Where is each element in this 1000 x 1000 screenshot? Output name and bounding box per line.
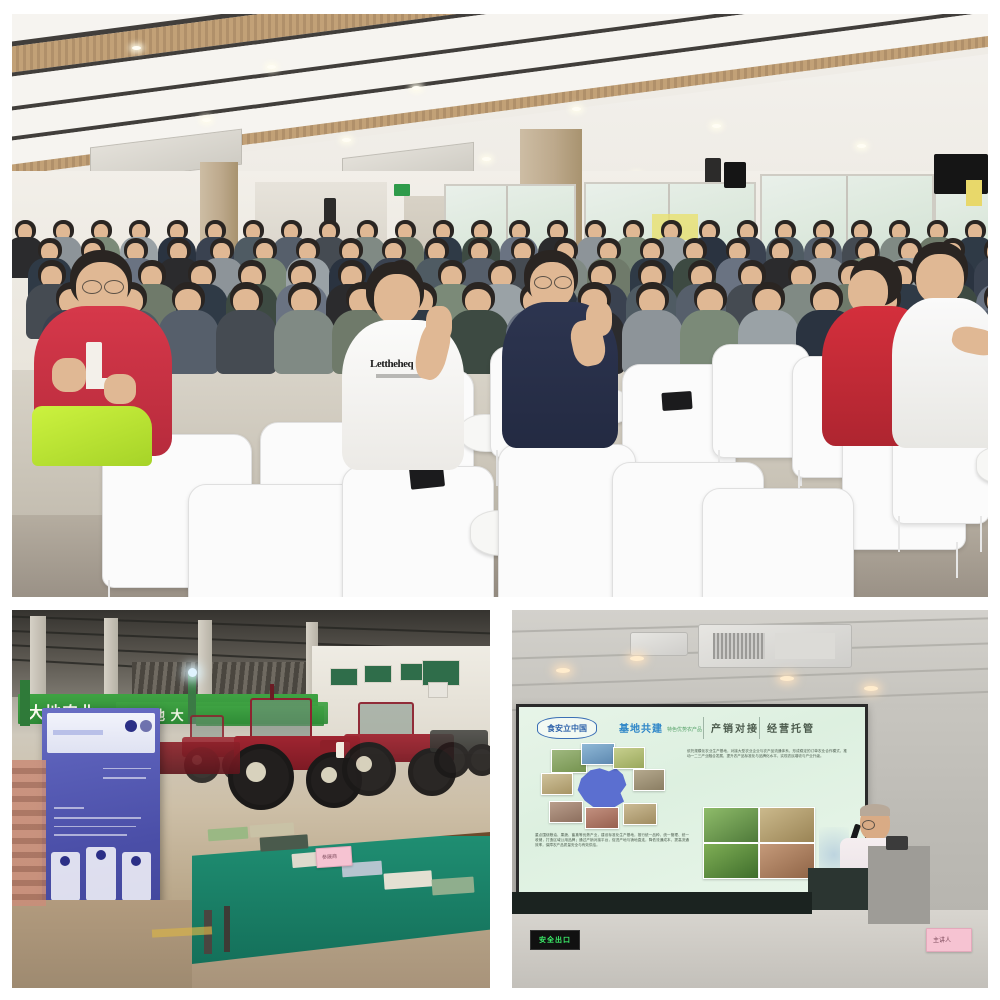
auditorium-audience-photo: Lettheheq [12, 14, 988, 597]
downlight-icon [412, 86, 421, 90]
tractor-showroom-photo: 大地农业 天地 大 [12, 610, 490, 988]
audience-member [274, 282, 335, 377]
ceiling-ac-cassette [698, 624, 852, 668]
person-white-tshirt-clapping: Lettheheq [342, 262, 472, 472]
smartphone [661, 391, 692, 411]
rollup-logo-icon [140, 720, 152, 732]
tractor [430, 718, 490, 778]
slide-photo-grid-item [759, 807, 815, 843]
shed-window [364, 665, 392, 683]
slide-thumbnail [549, 801, 583, 823]
banner-pole [20, 680, 30, 726]
wall-monitor-icon [724, 162, 746, 188]
exit-sign-icon [394, 184, 410, 196]
downlight-icon [857, 144, 866, 148]
slide-thumbnail [633, 769, 665, 791]
green-bag [32, 406, 152, 466]
speaker-name-card-text: 主讲人 [927, 929, 971, 944]
auditorium-chair [702, 488, 852, 597]
downlight-icon [132, 46, 141, 50]
slide-thumbnail [613, 747, 645, 769]
slide-body-bottom: 重点围绕粮油、果蔬、畜禽等优势产业，建设标准化生产基地，推行统一品种、统一管理、… [535, 833, 689, 849]
pink-name-card-text: 参展商 [316, 847, 351, 861]
person-navy-shirt-clapping [502, 250, 624, 450]
rollup-info-card [51, 852, 79, 902]
slide-thumbnail [581, 743, 615, 765]
slide-photo-grid-item [759, 843, 815, 879]
slide-photo-grid-item [703, 807, 759, 843]
slide-heading-3: 经营托管 [767, 720, 815, 735]
leaflet [384, 870, 433, 889]
exit-sign: 安全出口 [530, 930, 580, 950]
rollup-banner-header [47, 713, 156, 753]
rollup-info-card [86, 847, 117, 902]
downlight-icon [202, 118, 211, 122]
downlight-icon [342, 138, 351, 142]
slide-heading-1: 基地共建 [619, 720, 663, 735]
audience-member [216, 282, 277, 377]
stacked-goods [12, 760, 46, 906]
showroom-floor [12, 900, 192, 988]
exit-sign-text: 安全出口 [539, 935, 571, 945]
downlight-icon [864, 686, 878, 691]
wall-notice [966, 180, 982, 206]
lecture-presentation-photo: 食安立中国 基地共建 特色优势农产品 产销对接 经营托管 依托规模化农业生产基地… [512, 610, 988, 988]
slide-heading-1-sub: 特色优势农产品 [667, 726, 702, 733]
rollup-info-card [122, 852, 150, 902]
slide-heading-2: 产销对接 [711, 720, 759, 735]
rollup-logo-icon [125, 720, 137, 732]
photo-collage: Lettheheq [0, 0, 1000, 1000]
slide-thumbnail [623, 803, 657, 825]
slide-photo-grid-item [703, 843, 759, 879]
downlight-icon [482, 157, 491, 161]
downlight-icon [712, 124, 721, 128]
auditorium-chair [188, 484, 358, 597]
person-white-polo-right [892, 242, 988, 452]
audience-member [622, 282, 683, 377]
downlight-icon [267, 65, 276, 69]
side-cabinet [868, 846, 930, 924]
equipment-box [886, 836, 908, 850]
screen-bottom-bar [512, 892, 812, 914]
speaker-name-card: 主讲人 [926, 928, 972, 952]
table-leg [224, 906, 230, 952]
slide-body-top: 依托规模化农业生产基地，对接大型农业企业与农产品流通体系，形成稳定的订单农业合作… [687, 749, 847, 759]
downlight-icon [780, 676, 794, 681]
wall-ac-unit [428, 682, 448, 698]
ceiling-vent [630, 632, 688, 656]
downlight-icon [556, 668, 570, 673]
tractor-exhaust [270, 684, 274, 700]
slide-logo: 食安立中国 [537, 717, 597, 739]
leaflet [431, 877, 474, 896]
pink-name-card: 参展商 [315, 846, 352, 868]
shed-window [330, 668, 358, 686]
slide-thumbnail [585, 807, 619, 829]
slide-thumbnail [541, 773, 573, 795]
downlight-icon [572, 107, 581, 111]
shed-lamp-icon [188, 668, 197, 677]
downlight-icon [630, 656, 644, 661]
